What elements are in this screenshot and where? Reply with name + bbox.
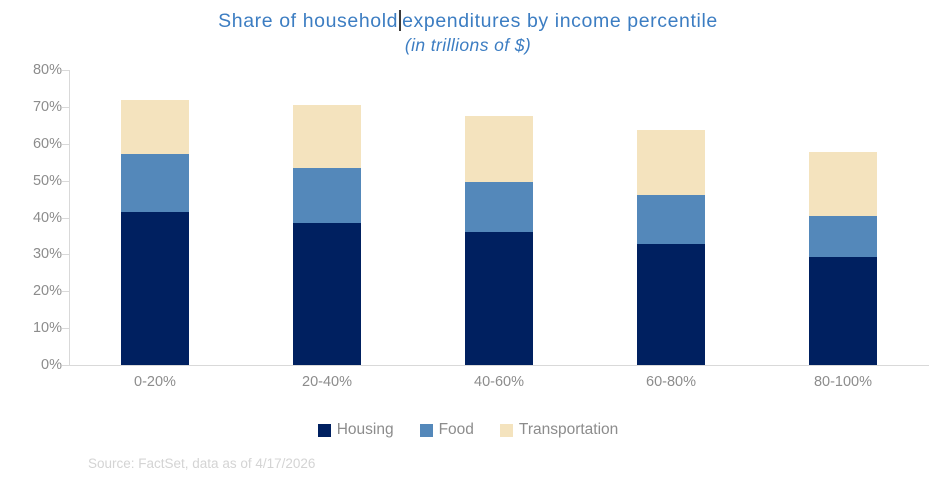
bar-stack <box>121 100 189 365</box>
bar-segment-transportation[interactable] <box>293 105 361 168</box>
source-note: Source: FactSet, data as of 4/17/2026 <box>88 456 315 471</box>
bar-group[interactable] <box>293 60 361 365</box>
x-axis-line <box>69 365 929 366</box>
y-axis-tick-label: 80% <box>33 62 62 78</box>
x-axis-tick-label: 40-60% <box>429 374 569 390</box>
y-axis-tick-mark <box>62 291 69 292</box>
legend-item-housing[interactable]: Housing <box>318 421 394 439</box>
y-axis: 80%70%60%50%40%30%20%10%0% <box>8 60 62 366</box>
legend-label: Food <box>439 421 474 439</box>
y-axis-tick-label: 70% <box>33 99 62 115</box>
bar-stack <box>293 105 361 365</box>
y-axis-tick-label: 60% <box>33 136 62 152</box>
y-axis-tick-mark <box>62 254 69 255</box>
bar-segment-housing[interactable] <box>121 212 189 365</box>
y-axis-tick-mark <box>62 218 69 219</box>
bar-stack <box>637 130 705 365</box>
y-axis-tick-label: 0% <box>41 357 62 373</box>
x-axis-tick-label: 0-20% <box>85 374 225 390</box>
legend-swatch-transportation <box>500 424 513 437</box>
y-axis-tick-label: 20% <box>33 283 62 299</box>
chart-container: Share of householdexpenditures by income… <box>0 0 936 487</box>
bars-layer <box>69 60 929 365</box>
bar-segment-housing[interactable] <box>465 232 533 365</box>
bar-segment-transportation[interactable] <box>637 130 705 195</box>
bar-segment-food[interactable] <box>121 154 189 212</box>
bar-stack <box>465 116 533 365</box>
bar-group[interactable] <box>809 60 877 365</box>
bar-segment-transportation[interactable] <box>465 116 533 182</box>
bar-group[interactable] <box>121 60 189 365</box>
y-axis-tick-label: 30% <box>33 246 62 262</box>
bar-group[interactable] <box>465 60 533 365</box>
chart-legend: HousingFoodTransportation <box>0 421 936 439</box>
legend-label: Transportation <box>519 421 618 439</box>
bar-segment-transportation[interactable] <box>809 152 877 216</box>
bar-segment-food[interactable] <box>293 168 361 223</box>
bar-segment-housing[interactable] <box>637 244 705 365</box>
bar-group[interactable] <box>637 60 705 365</box>
y-axis-tick-mark <box>62 70 69 71</box>
y-axis-tick-mark <box>62 107 69 108</box>
x-axis-tick-label: 60-80% <box>601 374 741 390</box>
y-axis-tick-label: 50% <box>33 173 62 189</box>
legend-item-food[interactable]: Food <box>420 421 474 439</box>
bar-segment-housing[interactable] <box>293 223 361 365</box>
bar-segment-food[interactable] <box>637 195 705 244</box>
bar-segment-housing[interactable] <box>809 257 877 365</box>
bar-segment-transportation[interactable] <box>121 100 189 154</box>
bar-segment-food[interactable] <box>465 182 533 233</box>
y-axis-tick-label: 10% <box>33 320 62 336</box>
legend-swatch-housing <box>318 424 331 437</box>
bar-segment-food[interactable] <box>809 216 877 257</box>
bar-stack <box>809 152 877 365</box>
legend-label: Housing <box>337 421 394 439</box>
y-axis-tick-mark <box>62 328 69 329</box>
x-axis: 0-20%20-40%40-60%60-80%80-100% <box>69 374 929 398</box>
y-axis-tick-mark <box>62 365 69 366</box>
plot-area: 80%70%60%50%40%30%20%10%0% 0-20%20-40%40… <box>0 0 936 487</box>
legend-item-transportation[interactable]: Transportation <box>500 421 618 439</box>
y-axis-tick-mark <box>62 181 69 182</box>
x-axis-tick-label: 80-100% <box>773 374 913 390</box>
legend-swatch-food <box>420 424 433 437</box>
y-axis-tick-mark <box>62 144 69 145</box>
y-axis-tick-label: 40% <box>33 210 62 226</box>
x-axis-tick-label: 20-40% <box>257 374 397 390</box>
